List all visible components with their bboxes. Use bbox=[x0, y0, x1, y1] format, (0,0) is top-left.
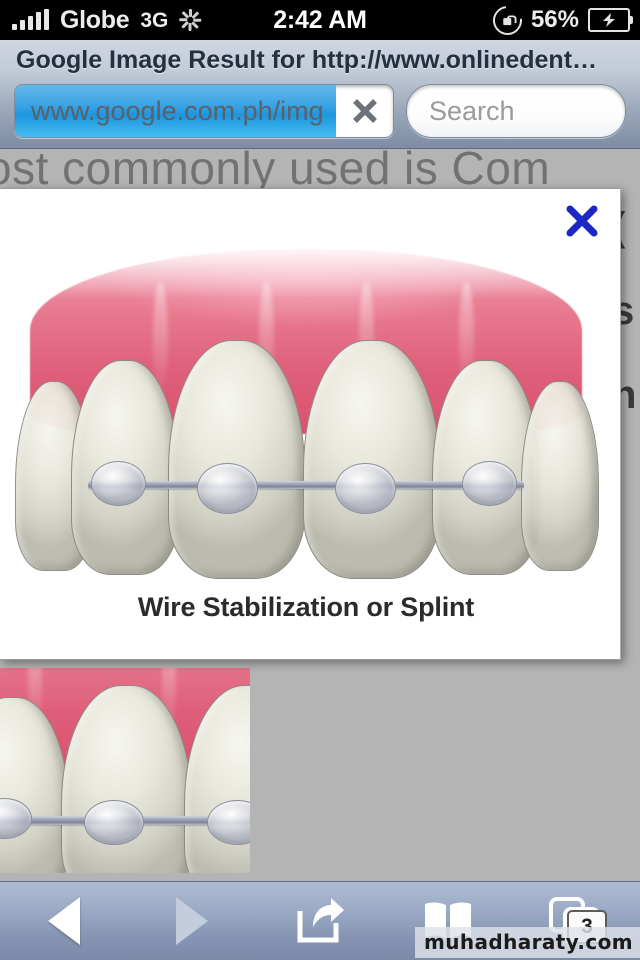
page-title: Google Image Result for http://www.onlin… bbox=[16, 46, 597, 75]
dental-splint-illustration[interactable]: Wire Stabilization or Splint bbox=[12, 233, 600, 643]
tooth bbox=[303, 340, 440, 580]
clear-url-button[interactable] bbox=[337, 85, 393, 137]
battery-charging-icon bbox=[588, 8, 630, 32]
triangle-right-icon bbox=[176, 897, 208, 945]
tooth bbox=[168, 340, 305, 580]
share-arrow-icon bbox=[295, 897, 345, 945]
splint-wire bbox=[88, 481, 523, 489]
address-bar-row: www.google.com.ph/img Search bbox=[0, 80, 640, 142]
site-watermark: muhadharaty.com bbox=[415, 927, 640, 958]
tooth bbox=[521, 381, 599, 572]
phone-screen: Globe 3G 2:42 AM 56% bbox=[0, 0, 640, 960]
image-caption: Wire Stabilization or Splint bbox=[12, 592, 600, 623]
status-bar: Globe 3G 2:42 AM 56% bbox=[0, 0, 640, 40]
image-result-overlay: Wire Stabilization or Splint bbox=[0, 188, 621, 660]
url-input[interactable]: www.google.com.ph/img bbox=[14, 84, 394, 138]
rotation-lock-icon bbox=[487, 0, 528, 40]
back-button[interactable] bbox=[9, 882, 119, 960]
bracket bbox=[462, 461, 517, 506]
dental-splint-illustration-partial bbox=[0, 668, 250, 873]
page-image-thumbnail[interactable] bbox=[0, 668, 250, 873]
triangle-left-icon bbox=[48, 897, 80, 945]
search-input-placeholder: Search bbox=[407, 96, 515, 127]
share-button[interactable] bbox=[265, 882, 375, 960]
battery-percent-label: 56% bbox=[531, 8, 579, 32]
close-overlay-button[interactable] bbox=[560, 199, 604, 243]
gum-top-fade bbox=[12, 233, 600, 299]
bracket bbox=[91, 461, 146, 506]
url-input-value: www.google.com.ph/img bbox=[15, 96, 337, 127]
status-bar-right: 56% bbox=[493, 6, 630, 35]
page-title-bar: Google Image Result for http://www.onlin… bbox=[0, 40, 640, 80]
bracket bbox=[197, 463, 258, 514]
browser-chrome: Google Image Result for http://www.onlin… bbox=[0, 40, 640, 149]
forward-button[interactable] bbox=[137, 882, 247, 960]
search-input[interactable]: Search bbox=[406, 84, 626, 138]
bracket bbox=[335, 463, 396, 514]
